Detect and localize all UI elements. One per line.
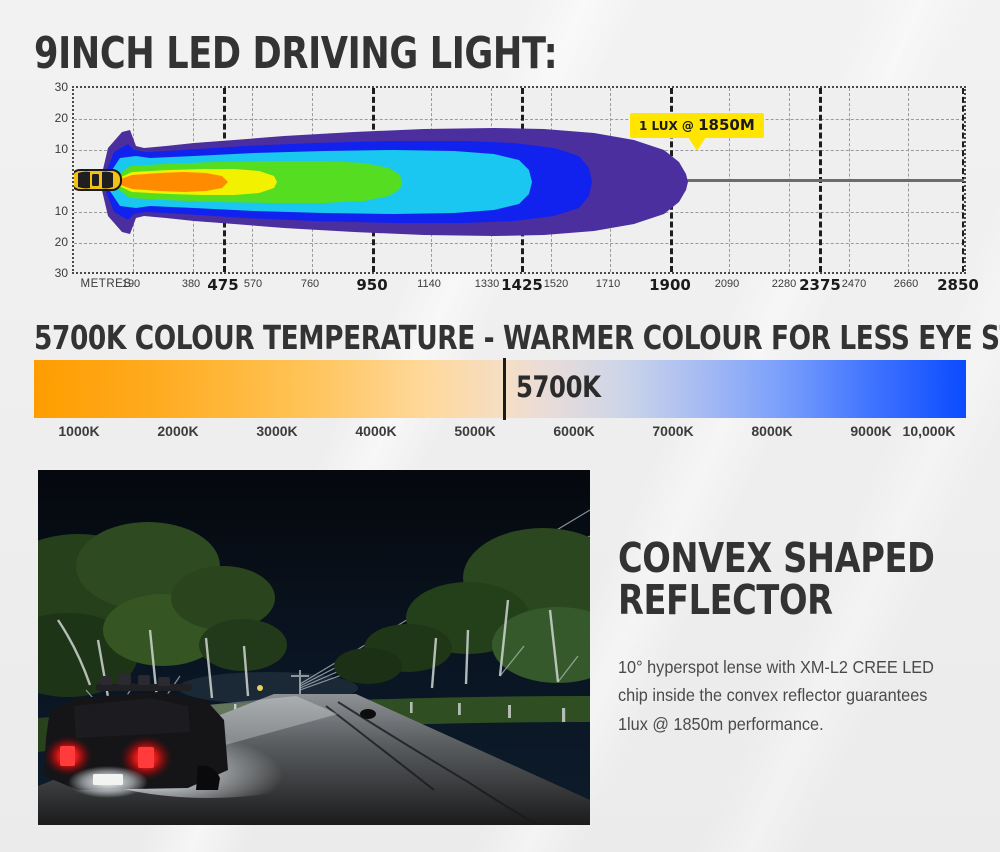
colour-temperature-title: 5700K COLOUR TEMPERATURE - WARMER COLOUR… — [34, 318, 1000, 357]
y-axis-label-10-top: 10 — [38, 142, 68, 156]
x-axis-label-1140: 1140 — [417, 278, 441, 290]
x-axis-label-475: 475 — [207, 276, 238, 294]
scale-label-6000k: 6000K — [553, 423, 594, 439]
callout-prefix: 1 LUX @ — [639, 119, 698, 133]
scale-label-3000k: 3000K — [256, 423, 297, 439]
callout-value: 1850M — [698, 116, 755, 134]
car-top-view-icon — [72, 167, 122, 193]
scale-label-4000k: 4000K — [355, 423, 396, 439]
x-axis-label-2850: 2850 — [937, 276, 979, 294]
y-axis-label-30-top: 30 — [38, 80, 68, 94]
chart-x-axis: METRES 190 380 475 570 760 950 1140 1330… — [72, 278, 966, 300]
scale-label-5000k: 5000K — [454, 423, 495, 439]
x-axis-label-1425: 1425 — [501, 276, 543, 294]
night-beam-photo — [38, 470, 590, 825]
x-axis-label-2470: 2470 — [842, 278, 866, 290]
chart-plot-area: 1 LUX @ 1850M — [72, 86, 966, 274]
scale-label-7000k: 7000K — [652, 423, 693, 439]
x-axis-label-760: 760 — [301, 278, 319, 290]
x-axis-label-2280: 2280 — [772, 278, 796, 290]
x-axis-label-1710: 1710 — [596, 278, 620, 290]
x-axis-label-1520: 1520 — [544, 278, 568, 290]
scale-label-2000k: 2000K — [157, 423, 198, 439]
x-axis-label-1900: 1900 — [649, 276, 691, 294]
scale-label-1000k: 1000K — [58, 423, 99, 439]
colour-temperature-scale: 5700K 1000K 2000K 3000K 4000K 5000K 6000… — [34, 360, 966, 448]
y-axis-label-20-top: 20 — [38, 111, 68, 125]
x-axis-label-190: 190 — [122, 278, 140, 290]
x-axis-label-950: 950 — [356, 276, 387, 294]
product-infographic-page: 9INCH LED DRIVING LIGHT: 30 20 10 10 20 … — [0, 0, 1000, 852]
colour-temperature-marker-line — [503, 358, 506, 420]
beam-contour-graphic — [74, 88, 966, 274]
x-axis-label-380: 380 — [182, 278, 200, 290]
scale-label-10000k: 10,000K — [903, 423, 956, 439]
feature-title: CONVEX SHAPED REFLECTOR — [618, 538, 935, 622]
x-axis-label-1330: 1330 — [475, 278, 499, 290]
lux-distance-callout: 1 LUX @ 1850M — [630, 113, 764, 138]
x-axis-label-570: 570 — [244, 278, 262, 290]
x-axis-label-2375: 2375 — [799, 276, 841, 294]
feature-title-line2: REFLECTOR — [618, 580, 935, 622]
y-axis-label-30-bottom: 30 — [38, 266, 68, 280]
y-axis-label-20-bottom: 20 — [38, 235, 68, 249]
page-title: 9INCH LED DRIVING LIGHT: — [34, 28, 557, 79]
feature-body-text: 10° hyperspot lense with XM-L2 CREE LED … — [618, 653, 944, 738]
colour-temperature-marker-label: 5700K — [516, 370, 601, 404]
scale-label-9000k: 9000K — [850, 423, 891, 439]
colour-temperature-gradient-bar — [34, 360, 966, 418]
x-axis-label-2660: 2660 — [894, 278, 918, 290]
feature-title-line1: CONVEX SHAPED — [618, 538, 935, 580]
beam-pattern-chart: 30 20 10 10 20 30 — [34, 86, 966, 301]
scale-label-8000k: 8000K — [751, 423, 792, 439]
chart-y-axis: 30 20 10 10 20 30 — [34, 86, 68, 274]
y-axis-label-10-bottom: 10 — [38, 204, 68, 218]
x-axis-label-2090: 2090 — [715, 278, 739, 290]
